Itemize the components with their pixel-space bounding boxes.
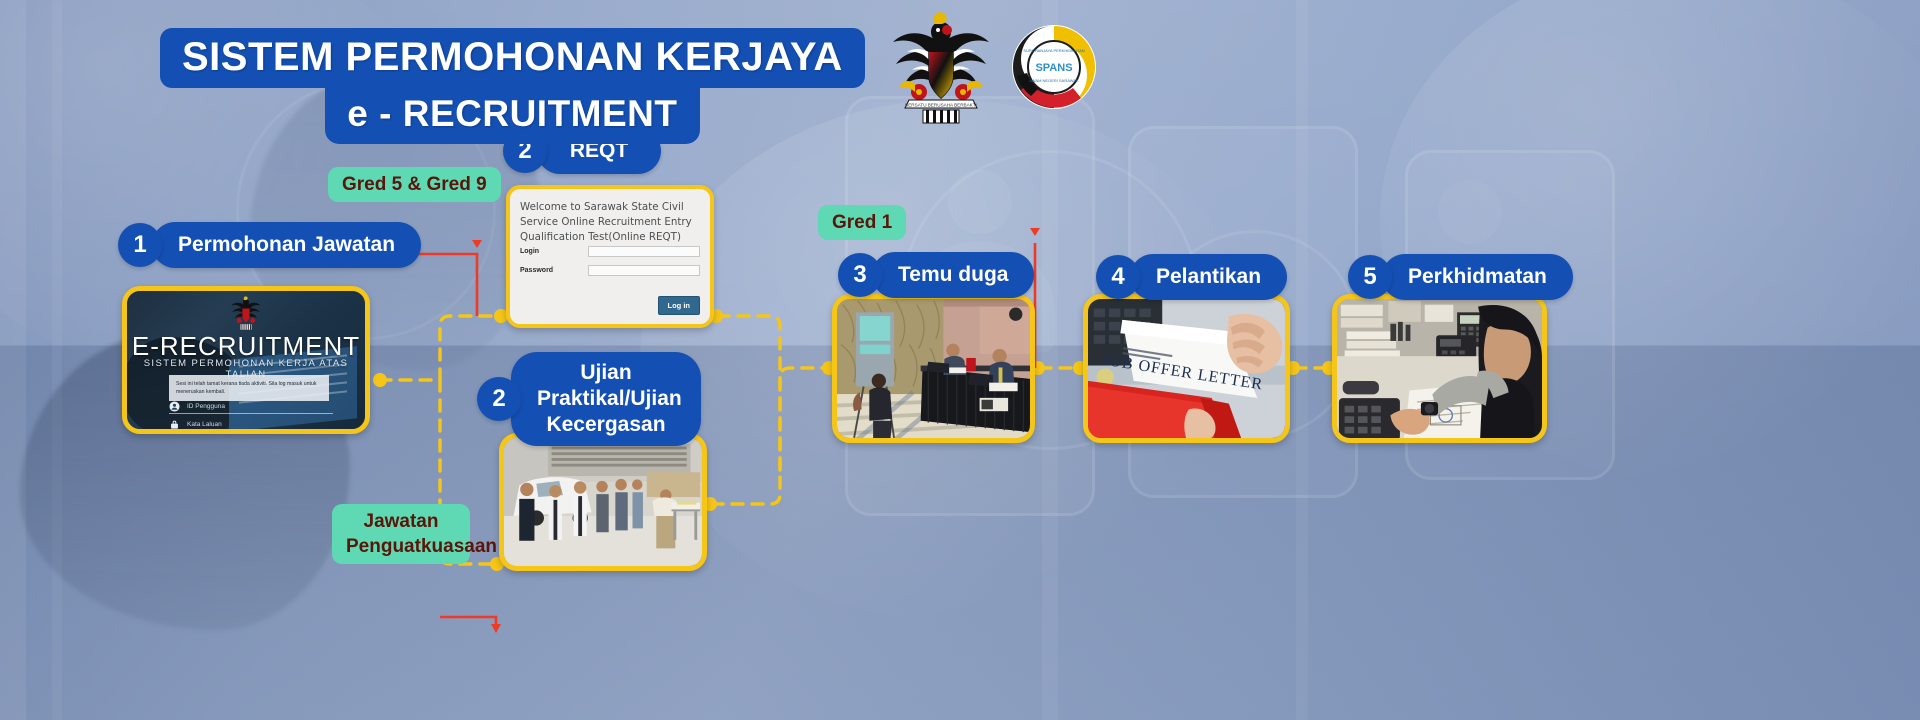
title-line-2: e - RECRUITMENT <box>325 86 699 144</box>
step-pill-3[interactable]: 3 Temu duga <box>838 252 1034 298</box>
step-pill-4[interactable]: 4 Pelantikan <box>1096 254 1287 300</box>
sarawak-state-crest-icon: BERSATU BERUSAHA BERBAKTI <box>885 8 997 126</box>
sarawak-crest-small-icon <box>229 295 263 331</box>
photo-card-perkhidmatan[interactable] <box>1332 294 1547 443</box>
user-icon <box>169 401 180 412</box>
reqt-login-row: Login <box>520 246 700 257</box>
step-label-pelantikan: Pelantikan <box>1130 254 1287 300</box>
reqt-login-input[interactable] <box>588 246 700 257</box>
photo-card-ujian-praktikal[interactable] <box>499 433 707 571</box>
step-number-2-ujian: 2 <box>477 377 521 421</box>
svg-text:SURUHANJAYA PERKHIDMATAN: SURUHANJAYA PERKHIDMATAN <box>1023 48 1084 53</box>
erecruitment-session-message: Sesi ini telah tamat kerana tiada aktivi… <box>169 375 329 401</box>
photo-temu-duga <box>837 299 1030 441</box>
background-stripe <box>0 0 26 720</box>
step-pill-5[interactable]: 5 Perkhidmatan <box>1348 254 1573 300</box>
svg-text:AWAM NEGERI SARAWAK: AWAM NEGERI SARAWAK <box>1029 78 1079 83</box>
erecruitment-password-placeholder: Kata Laluan <box>187 421 222 428</box>
photo-card-temu-duga[interactable] <box>832 294 1035 443</box>
erecruitment-password-field[interactable]: Kata Laluan <box>169 417 333 432</box>
photo-perkhidmatan <box>1337 299 1542 441</box>
reqt-password-label: Password <box>520 267 588 274</box>
erecruitment-username-field[interactable]: ID Pengguna <box>169 399 333 414</box>
note-badge-jawatan-penguatkuasaan: Jawatan Penguatkuasaan <box>332 504 470 564</box>
reqt-login-button[interactable]: Log in <box>658 296 701 315</box>
reqt-login-label: Login <box>520 248 588 255</box>
spans-logo-text: SPANS <box>1035 62 1072 74</box>
erecruitment-login-button[interactable]: Log Masuk <box>187 433 317 434</box>
step-label-temu-duga: Temu duga <box>872 252 1034 298</box>
erecruitment-screenshot-card[interactable]: E-RECRUITMENT SISTEM PERMOHONAN KERJA AT… <box>122 286 370 434</box>
logo-group: BERSATU BERUSAHA BERBAKTI SPANS SURUHANJ… <box>885 8 1097 126</box>
step-label-ujian-praktikal: Ujian Praktikal/Ujian Kecergasan <box>511 352 701 446</box>
background-stripe <box>52 0 62 720</box>
photo-ujian-praktikal <box>504 438 702 569</box>
photo-card-pelantikan[interactable]: JOB OFFER LETTER <box>1083 294 1290 443</box>
step-pill-2-ujian[interactable]: 2 Ujian Praktikal/Ujian Kecergasan <box>477 352 701 446</box>
photo-job-offer-letter: JOB OFFER LETTER <box>1088 299 1285 441</box>
step-number-5: 5 <box>1348 255 1392 299</box>
reqt-login-card[interactable]: Welcome to Sarawak State Civil Service O… <box>506 185 714 328</box>
infographic-canvas: SISTEM PERMOHONAN KERJAYA e - RECRUITMEN… <box>0 0 1920 720</box>
step-number-3: 3 <box>838 253 882 297</box>
lock-icon <box>169 419 180 430</box>
step-label-perkhidmatan: Perkhidmatan <box>1382 254 1573 300</box>
page-title: SISTEM PERMOHONAN KERJAYA e - RECRUITMEN… <box>160 28 865 144</box>
step-number-4: 4 <box>1096 255 1140 299</box>
title-line-1: SISTEM PERMOHONAN KERJAYA <box>160 28 865 88</box>
reqt-welcome-text: Welcome to Sarawak State Civil Service O… <box>520 200 700 245</box>
note-badge-gred-1: Gred 1 <box>818 205 906 240</box>
step-pill-1[interactable]: 1 Permohonan Jawatan <box>118 222 421 268</box>
step-label-permohonan-jawatan: Permohonan Jawatan <box>152 222 421 268</box>
background-stripe <box>1296 0 1308 720</box>
step-number-1: 1 <box>118 223 162 267</box>
erecruitment-username-placeholder: ID Pengguna <box>187 403 225 410</box>
svg-text:BERSATU BERUSAHA BERBAKTI: BERSATU BERUSAHA BERBAKTI <box>905 103 977 108</box>
reqt-password-row: Password <box>520 265 700 276</box>
reqt-password-input[interactable] <box>588 265 700 276</box>
note-badge-gred-5-9: Gred 5 & Gred 9 <box>328 167 501 202</box>
spans-logo-icon: SPANS SURUHANJAYA PERKHIDMATAN AWAM NEGE… <box>1011 24 1097 110</box>
